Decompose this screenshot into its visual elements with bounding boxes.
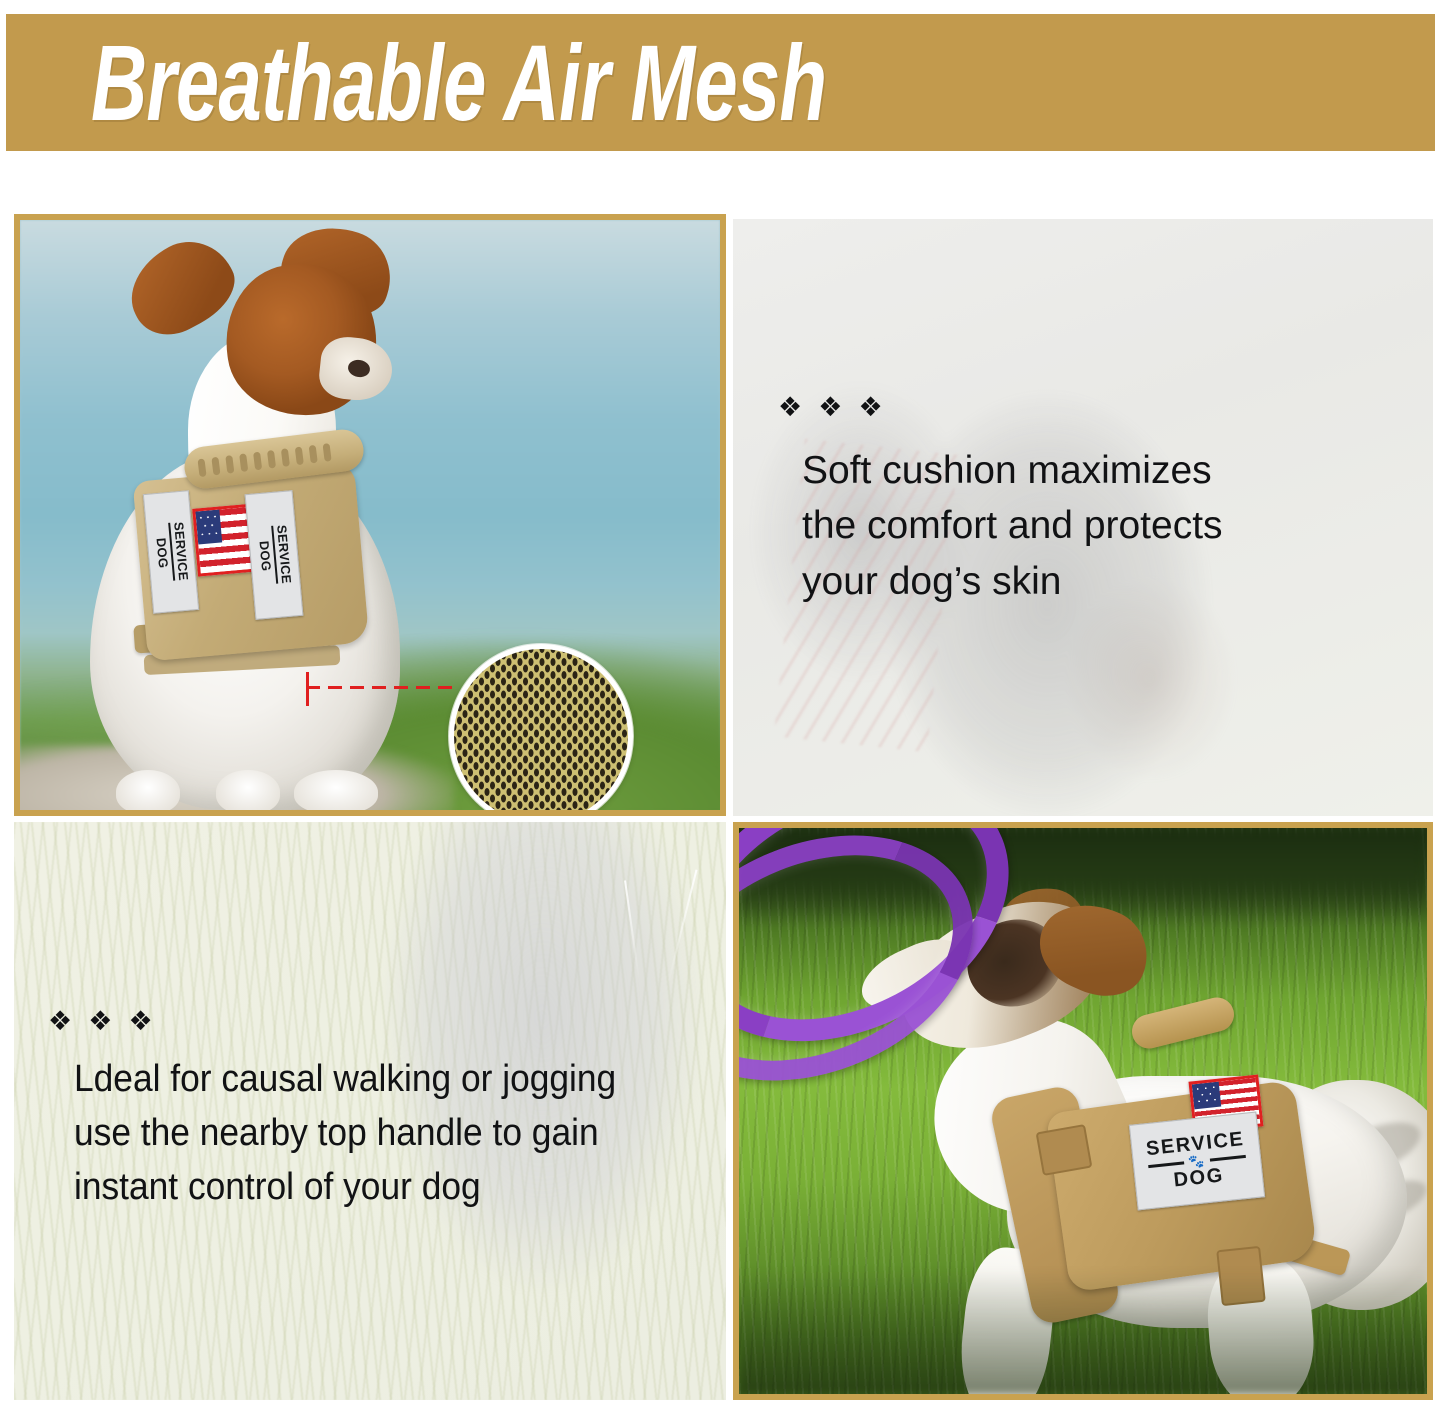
photo-dog-tug-ring-grass: SERVICE 🐾 DOG: [733, 822, 1433, 1400]
patch-line-dog: DOG: [256, 540, 274, 572]
diamond-cluster-icon: ❖: [48, 1008, 72, 1035]
feature-text-ideal-walking: Ldeal for causal walking or jogging use …: [74, 1053, 664, 1215]
handle-slots: [197, 443, 331, 477]
bullet-row: ❖ ❖ ❖: [48, 1008, 708, 1035]
patch-line-dog: DOG: [1173, 1164, 1225, 1191]
diamond-cluster-icon: ❖: [858, 394, 882, 421]
photo-dog-harness-waterside: SERVICE DOG SERVICE DOG: [14, 214, 726, 816]
feature-line: your dog’s skin: [802, 554, 1338, 609]
feature-line: Ldeal for causal walking or jogging: [74, 1053, 664, 1107]
feature-text-soft-cushion: Soft cushion maximizes the comfort and p…: [802, 443, 1338, 609]
feature-line: Soft cushion maximizes: [802, 443, 1338, 498]
flag-canton: [195, 510, 222, 545]
patch-line-dog: DOG: [153, 537, 171, 569]
feature-line: use the nearby top handle to gain: [74, 1107, 664, 1161]
air-mesh-closeup-circle: [449, 644, 633, 816]
bullet-row: ❖ ❖ ❖: [778, 394, 1338, 421]
service-dog-patch: SERVICE 🐾 DOG: [1129, 1112, 1265, 1211]
diamond-cluster-icon: ❖: [778, 394, 802, 421]
feature-line: instant control of your dog: [74, 1161, 664, 1215]
service-dog-patch-text: SERVICE 🐾 DOG: [1145, 1129, 1249, 1193]
callout-leader-line: [306, 686, 458, 689]
page-title: Breathable Air Mesh: [6, 29, 826, 137]
dog-paw: [294, 770, 378, 814]
feature-line: the comfort and protects: [802, 498, 1338, 553]
harness-buckle: [1036, 1124, 1093, 1176]
callout-leader-tick: [306, 672, 309, 706]
service-dog-patch-text: SERVICE DOG: [255, 524, 293, 586]
diamond-cluster-icon: ❖: [818, 394, 842, 421]
feature-block-ideal-walking: ❖ ❖ ❖ Ldeal for causal walking or joggin…: [48, 1008, 708, 1215]
purple-tug-ring-toy: [745, 838, 1005, 1048]
flag-canton: [1192, 1082, 1221, 1110]
diamond-cluster-icon: ❖: [128, 1008, 152, 1035]
diamond-cluster-icon: ❖: [88, 1008, 112, 1035]
infographic-page: Breathable Air Mesh SERVICE DOG: [0, 0, 1445, 1413]
foreground-grass-blur: [739, 1269, 1427, 1394]
feature-block-soft-cushion: ❖ ❖ ❖ Soft cushion maximizes the comfort…: [778, 394, 1338, 609]
dog-paw: [216, 770, 280, 814]
service-dog-patch-text: SERVICE DOG: [152, 521, 190, 583]
dog-paw: [116, 770, 180, 814]
header-banner: Breathable Air Mesh: [6, 14, 1435, 151]
